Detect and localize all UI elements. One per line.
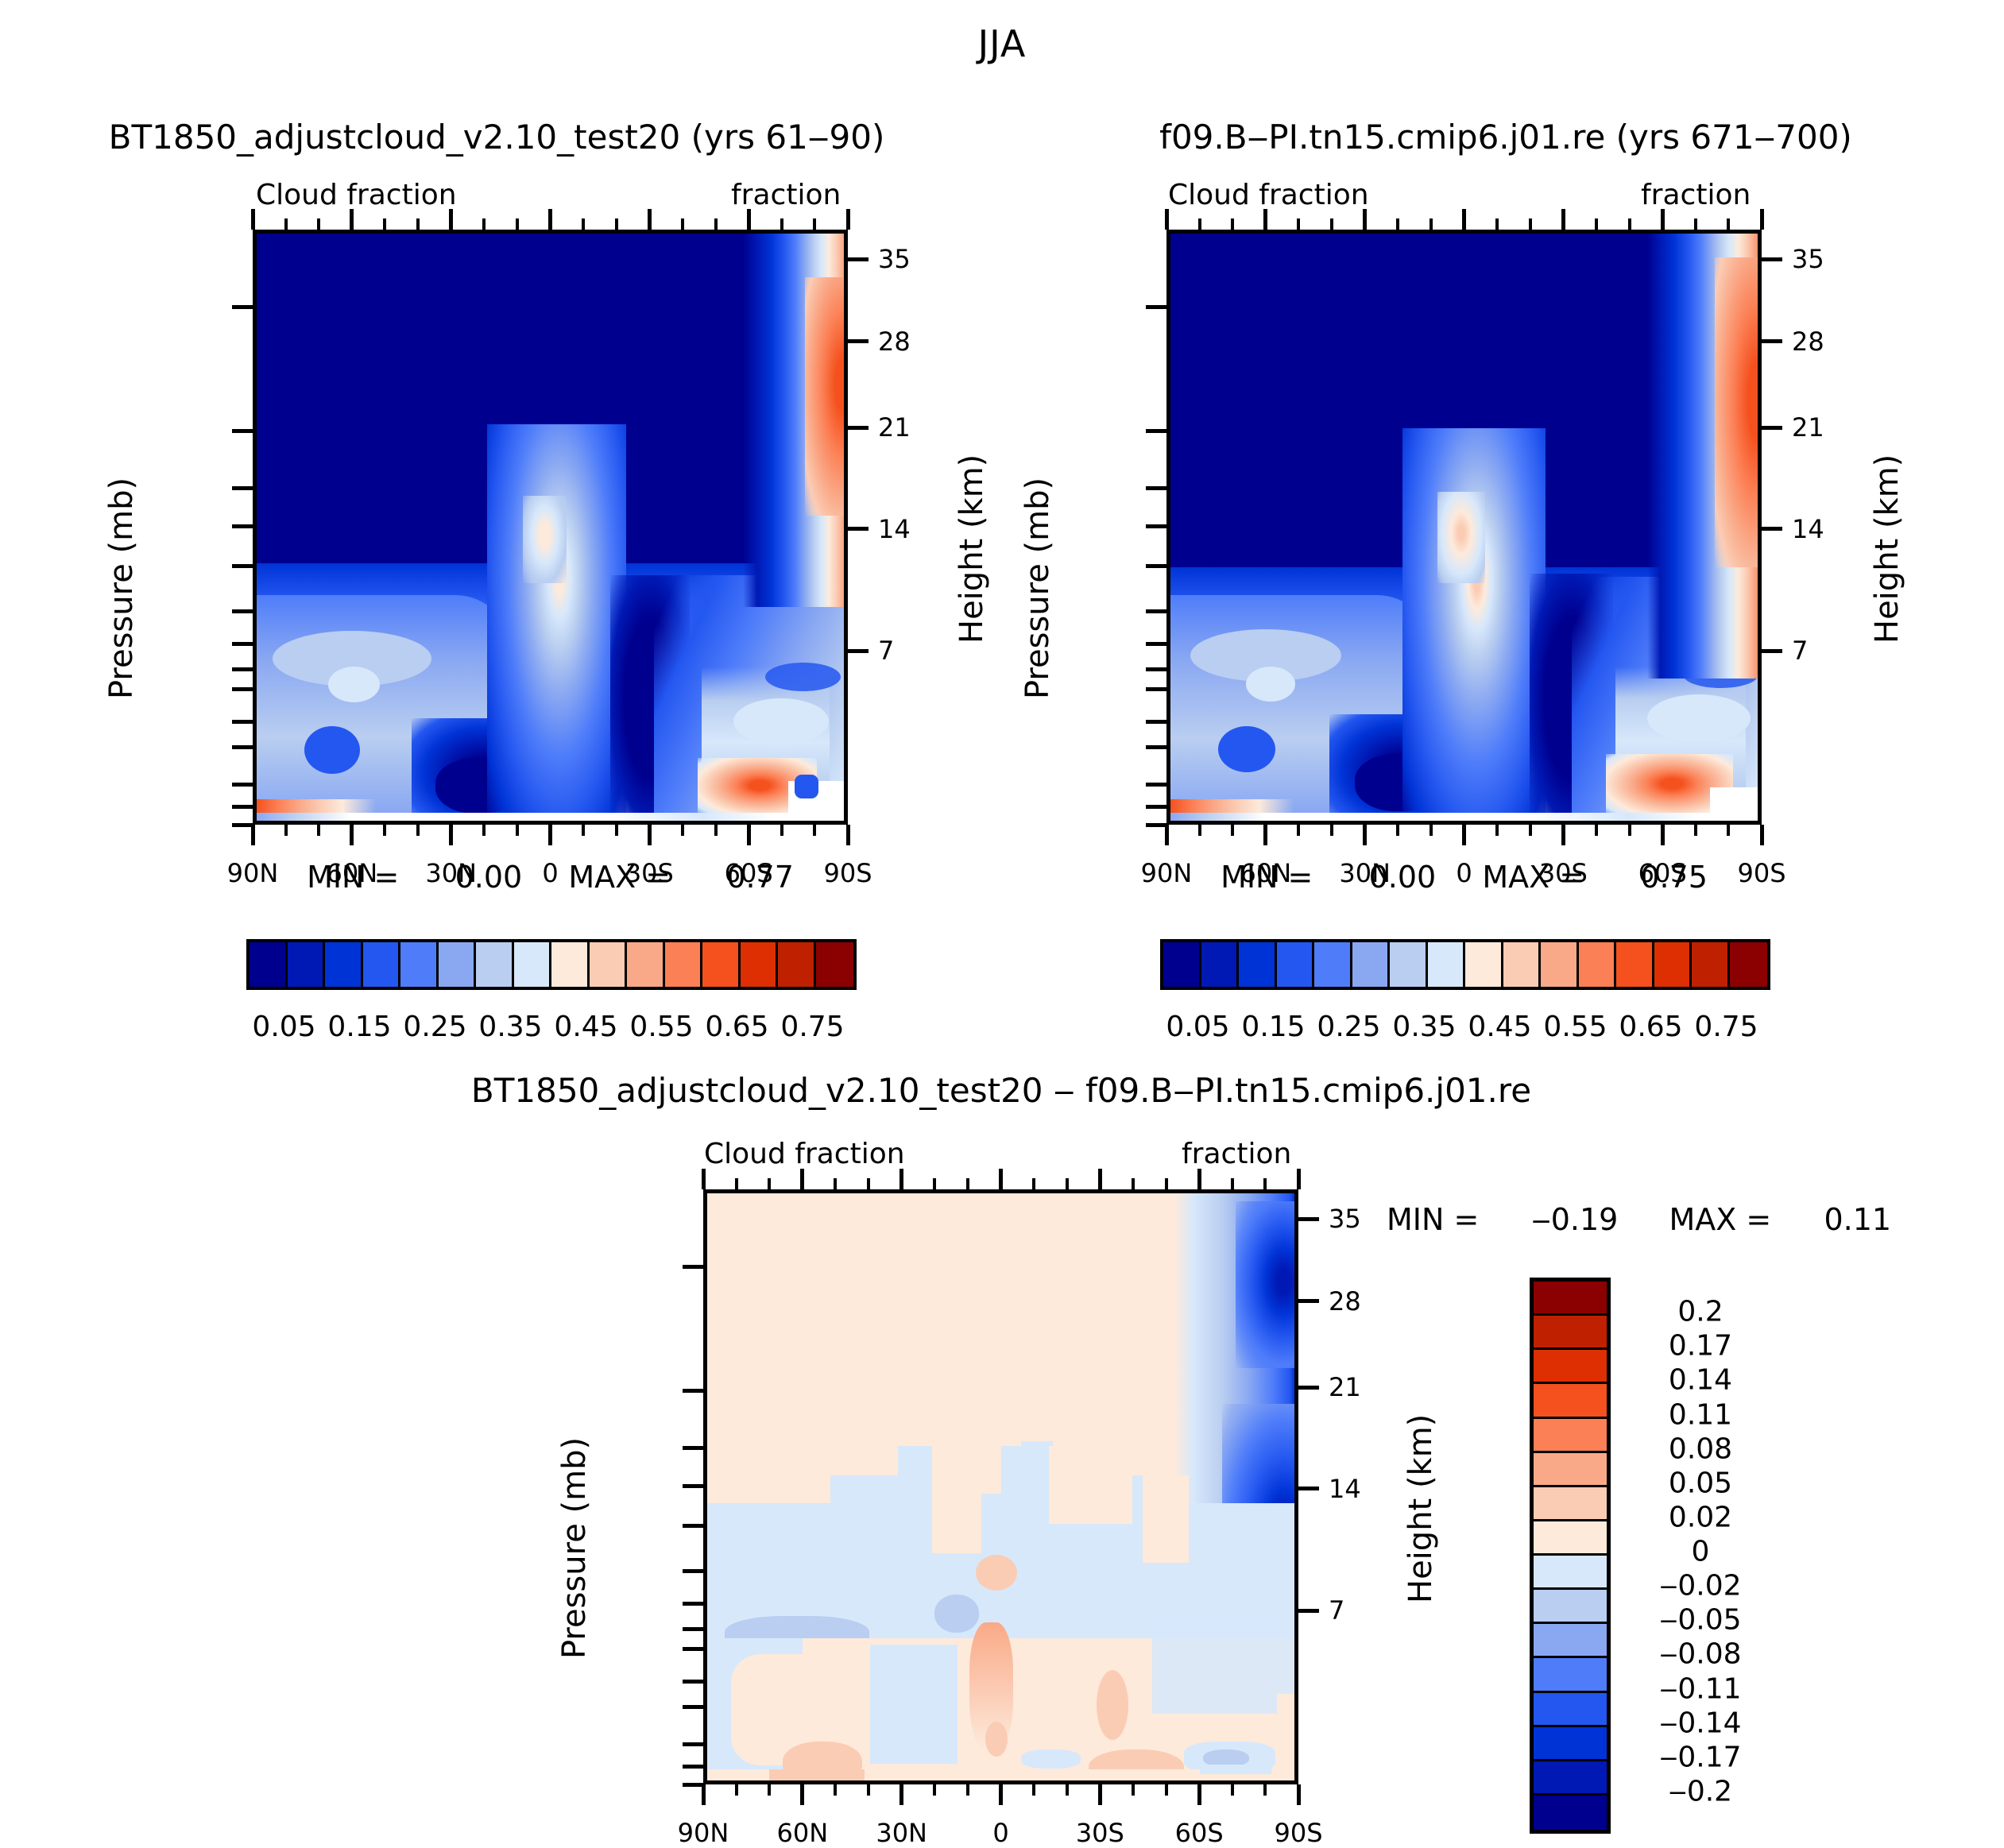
bottom-min-value: ‒0.19: [1532, 1202, 1619, 1237]
height-tick-label: 14: [878, 514, 911, 544]
x-tick-major: [449, 825, 453, 845]
colorbar-swatch: [702, 942, 741, 987]
pressure-tick: [683, 1680, 703, 1684]
x-tick-minor-top: [582, 218, 585, 230]
x-tick-major-top: [1098, 1169, 1102, 1189]
bottom-contour-field: [707, 1193, 1294, 1780]
x-tick-minor-top: [1165, 1178, 1168, 1189]
colorbar-swatch: [1352, 942, 1391, 987]
colorbar-tick-label: 0.55: [1543, 1011, 1607, 1043]
pressure-tick: [232, 564, 253, 568]
top-right-height-axis-title: Height (km): [1869, 454, 1905, 644]
x-tick-minor-top: [1529, 218, 1532, 230]
colorbar-tick-label: 0.14: [1617, 1364, 1784, 1397]
colorbar-swatch: [590, 942, 628, 987]
bottom-panel-title: BT1850_adjustcloud_v2.10_test20 ‒ f09.B‒…: [318, 1071, 1685, 1110]
x-tick-minor: [516, 825, 519, 836]
colorbar-swatch: [1534, 1590, 1607, 1624]
x-tick-minor-top: [1231, 218, 1234, 230]
pressure-tick: [232, 667, 253, 671]
latitude-tick-label: 60N: [777, 1818, 829, 1848]
pressure-tick: [683, 1446, 703, 1450]
x-tick-minor-top: [615, 218, 618, 230]
colorbar-swatch: [1541, 942, 1579, 987]
x-tick-minor-top: [1330, 218, 1333, 230]
top-left-contour-field: [257, 234, 844, 821]
height-tick-label: 7: [1329, 1595, 1344, 1626]
top-left-max-label: MAX =: [568, 860, 671, 895]
pressure-tick: [232, 524, 253, 528]
pressure-tick: [683, 1265, 703, 1269]
top-right-variable-label: Cloud fraction: [1168, 179, 1369, 211]
height-tick: [1762, 339, 1782, 343]
colorbar-tick-label: 0.65: [705, 1011, 768, 1043]
bottom-max-label: MAX =: [1669, 1202, 1772, 1237]
x-tick-minor-top: [1495, 218, 1499, 230]
top-right-colorbar-labels: 0.050.150.250.350.450.550.650.75: [1160, 1011, 1764, 1046]
colorbar-swatch: [1428, 942, 1466, 987]
x-tick-minor-top: [768, 1178, 771, 1189]
x-tick-major-top: [1363, 209, 1367, 230]
x-tick-minor-top: [1727, 218, 1730, 230]
colorbar-tick-label: ‒0.17: [1617, 1741, 1784, 1773]
x-tick-minor-top: [1132, 1178, 1135, 1189]
x-tick-major: [1197, 1784, 1201, 1805]
x-tick-minor: [582, 825, 585, 836]
colorbar-swatch: [1534, 1624, 1607, 1658]
colorbar-swatch: [778, 942, 816, 987]
x-tick-major-top: [1263, 209, 1267, 230]
colorbar-swatch: [1534, 1556, 1607, 1590]
x-tick-minor-top: [284, 218, 288, 230]
x-tick-major-top: [702, 1169, 706, 1189]
pressure-tick: [1146, 609, 1166, 613]
x-tick-major: [648, 825, 652, 845]
x-tick-minor: [1727, 825, 1730, 836]
colorbar-swatch: [1534, 1316, 1607, 1350]
height-tick-label: 28: [1329, 1286, 1361, 1316]
colorbar-swatch: [1692, 942, 1730, 987]
x-tick-minor: [768, 1784, 771, 1796]
colorbar-swatch: [1534, 1384, 1607, 1418]
colorbar-swatch: [1534, 1487, 1607, 1521]
colorbar-swatch: [1534, 1453, 1607, 1487]
pressure-tick: [232, 609, 253, 613]
top-right-max-value: 0.75: [1640, 860, 1708, 895]
bottom-variable-label: Cloud fraction: [704, 1138, 905, 1170]
top-left-max-value: 0.77: [726, 860, 794, 895]
x-tick-major: [1263, 825, 1267, 845]
pressure-tick: [1146, 305, 1166, 309]
top-left-min-label: MIN =: [307, 860, 399, 895]
pressure-tick: [1146, 783, 1166, 787]
pressure-tick: [232, 429, 253, 433]
colorbar-tick-label: 0.08: [1617, 1432, 1784, 1465]
colorbar-swatch: [1534, 1282, 1607, 1316]
x-tick-major: [1561, 825, 1565, 845]
colorbar-tick-label: 0.05: [1166, 1011, 1229, 1043]
colorbar-tick-label: 0.35: [478, 1011, 542, 1043]
x-tick-major: [747, 825, 751, 845]
colorbar-tick-label: 0.15: [327, 1011, 391, 1043]
x-tick-minor: [933, 1784, 936, 1796]
x-tick-minor-top: [1595, 218, 1598, 230]
x-tick-minor: [780, 825, 783, 836]
pressure-tick: [1146, 486, 1166, 490]
colorbar-swatch: [288, 942, 326, 987]
x-tick-major-top: [1760, 209, 1764, 230]
colorbar-swatch: [1534, 1350, 1607, 1384]
x-tick-minor-top: [1628, 218, 1631, 230]
colorbar-tick-label: 0.11: [1617, 1398, 1784, 1431]
top-right-panel-title: f09.B‒PI.tn15.cmip6.j01.re (yrs 671‒700): [1057, 118, 1955, 157]
x-tick-minor: [681, 825, 684, 836]
colorbar-swatch: [325, 942, 363, 987]
x-tick-minor-top: [1263, 1178, 1267, 1189]
top-left-plot-area[interactable]: [253, 230, 848, 825]
pressure-tick: [683, 1742, 703, 1746]
pressure-tick: [683, 1484, 703, 1488]
x-tick-minor-top: [516, 218, 519, 230]
x-tick-minor-top: [1297, 218, 1300, 230]
x-tick-major: [350, 825, 354, 845]
x-tick-major: [548, 825, 552, 845]
height-tick: [848, 649, 869, 653]
height-tick-label: 35: [1792, 244, 1824, 274]
x-tick-minor: [1263, 1784, 1267, 1796]
x-tick-major-top: [1297, 1169, 1301, 1189]
x-tick-major-top: [449, 209, 453, 230]
top-right-min-value: 0.00: [1369, 860, 1437, 895]
height-tick: [1298, 1609, 1319, 1613]
x-tick-major: [1098, 1784, 1102, 1805]
top-left-variable-label: Cloud fraction: [256, 179, 457, 211]
x-tick-major-top: [251, 209, 255, 230]
top-right-colorbar[interactable]: [1160, 939, 1770, 990]
x-tick-major-top: [899, 1169, 903, 1189]
x-tick-major-top: [747, 209, 751, 230]
top-left-colorbar[interactable]: [246, 939, 857, 990]
x-tick-major-top: [648, 209, 652, 230]
pressure-tick: [683, 1389, 703, 1393]
x-tick-minor: [1330, 825, 1333, 836]
latitude-tick-label: 90S: [1274, 1818, 1322, 1848]
colorbar-swatch: [1534, 1521, 1607, 1556]
colorbar-swatch: [741, 942, 779, 987]
x-tick-minor: [1628, 825, 1631, 836]
height-tick-label: 7: [878, 636, 894, 666]
x-tick-minor: [416, 825, 420, 836]
colorbar-tick-label: 0.75: [780, 1011, 844, 1043]
colorbar-swatch: [1534, 1761, 1607, 1796]
x-tick-minor: [1595, 825, 1598, 836]
height-tick-label: 21: [1329, 1372, 1361, 1402]
difference-colorbar[interactable]: [1530, 1278, 1611, 1834]
latitude-tick-label: 60S: [1175, 1818, 1224, 1848]
top-left-units-label: fraction: [731, 179, 841, 211]
x-tick-minor: [834, 1784, 837, 1796]
x-tick-major-top: [1197, 1169, 1201, 1189]
colorbar-swatch: [476, 942, 514, 987]
colorbar-tick-label: 0.25: [403, 1011, 466, 1043]
x-tick-minor-top: [1066, 1178, 1069, 1189]
colorbar-tick-label: ‒0.2: [1617, 1775, 1784, 1807]
x-tick-minor: [1231, 1784, 1234, 1796]
top-left-min-value: 0.00: [455, 860, 523, 895]
latitude-tick-label: 30S: [1076, 1818, 1124, 1848]
x-tick-minor: [1198, 825, 1201, 836]
pressure-tick: [1146, 720, 1166, 724]
x-tick-minor-top: [867, 1178, 870, 1189]
colorbar-tick-label: ‒0.14: [1617, 1707, 1784, 1739]
pressure-tick: [232, 783, 253, 787]
colorbar-tick-label: 0.75: [1694, 1011, 1758, 1043]
colorbar-swatch: [1163, 942, 1201, 987]
x-tick-major-top: [350, 209, 354, 230]
colorbar-swatch: [665, 942, 703, 987]
x-tick-major: [1363, 825, 1367, 845]
bottom-min-label: MIN =: [1387, 1202, 1479, 1237]
x-tick-minor-top: [1032, 1178, 1035, 1189]
top-left-pressure-axis-title: Pressure (mb): [103, 477, 140, 699]
height-tick: [848, 339, 869, 343]
x-tick-minor-top: [714, 218, 718, 230]
top-right-max-label: MAX =: [1482, 860, 1584, 895]
x-tick-major: [251, 825, 255, 845]
x-tick-major: [846, 825, 850, 845]
colorbar-tick-label: 0.35: [1392, 1011, 1456, 1043]
pressure-tick: [232, 823, 253, 827]
height-tick: [1298, 1217, 1319, 1221]
colorbar-swatch: [1314, 942, 1352, 987]
pressure-tick: [683, 1524, 703, 1528]
height-tick: [848, 257, 869, 261]
colorbar-tick-label: 0.05: [252, 1011, 315, 1043]
pressure-tick: [232, 305, 253, 309]
colorbar-tick-label: 0.2: [1617, 1296, 1784, 1328]
pressure-tick: [232, 720, 253, 724]
top-left-panel-title: BT1850_adjustcloud_v2.10_test20 (yrs 61‒…: [48, 118, 946, 157]
colorbar-swatch: [1730, 942, 1768, 987]
height-tick-label: 35: [878, 244, 911, 274]
pressure-tick: [683, 1602, 703, 1606]
x-tick-major: [999, 1784, 1003, 1805]
colorbar-swatch: [1534, 1419, 1607, 1453]
x-tick-minor-top: [735, 1178, 738, 1189]
pressure-tick: [683, 1783, 703, 1787]
colorbar-tick-label: 0.45: [1468, 1011, 1531, 1043]
pressure-tick: [1146, 823, 1166, 827]
x-tick-major: [1462, 825, 1466, 845]
x-tick-major-top: [1661, 209, 1665, 230]
pressure-tick: [683, 1765, 703, 1769]
pressure-tick: [1146, 642, 1166, 646]
colorbar-tick-label: ‒0.11: [1617, 1672, 1784, 1705]
height-tick: [1298, 1386, 1319, 1390]
pressure-tick: [683, 1569, 703, 1573]
bottom-height-axis-title: Height (km): [1402, 1414, 1439, 1603]
height-tick-label: 14: [1329, 1474, 1361, 1504]
x-tick-major-top: [800, 1169, 804, 1189]
latitude-tick-label: 0: [992, 1818, 1008, 1848]
x-tick-minor: [867, 1784, 870, 1796]
pressure-tick: [683, 1705, 703, 1709]
top-right-min-label: MIN =: [1221, 860, 1313, 895]
bottom-pressure-axis-title: Pressure (mb): [556, 1437, 593, 1659]
x-tick-minor: [1132, 1784, 1135, 1796]
x-tick-major: [800, 1784, 804, 1805]
colorbar-swatch: [400, 942, 439, 987]
top-right-pressure-axis-title: Pressure (mb): [1019, 477, 1056, 699]
height-tick-label: 7: [1792, 636, 1808, 666]
height-tick: [1762, 257, 1782, 261]
pressure-tick: [232, 687, 253, 691]
pressure-tick: [1146, 667, 1166, 671]
x-tick-minor-top: [681, 218, 684, 230]
x-tick-major: [1297, 1784, 1301, 1805]
x-tick-minor: [317, 825, 320, 836]
season-title: JJA: [0, 22, 2004, 65]
x-tick-minor: [482, 825, 486, 836]
colorbar-swatch: [1239, 942, 1277, 987]
x-tick-minor-top: [416, 218, 420, 230]
colorbar-tick-label: 0.17: [1617, 1330, 1784, 1363]
x-tick-minor-top: [482, 218, 486, 230]
x-tick-minor-top: [966, 1178, 969, 1189]
colorbar-swatch: [1534, 1658, 1607, 1692]
colorbar-tick-label: 0.15: [1241, 1011, 1305, 1043]
latitude-tick-label: 90N: [678, 1818, 729, 1848]
pressure-tick: [1146, 745, 1166, 749]
pressure-tick: [1146, 687, 1166, 691]
x-tick-minor-top: [933, 1178, 936, 1189]
colorbar-tick-label: 0.02: [1617, 1501, 1784, 1533]
pressure-tick: [1146, 524, 1166, 528]
colorbar-tick-label: ‒0.05: [1617, 1604, 1784, 1637]
height-tick: [1762, 649, 1782, 653]
x-tick-minor: [1694, 825, 1697, 836]
height-tick: [1298, 1299, 1319, 1303]
x-tick-minor-top: [383, 218, 386, 230]
x-tick-minor: [1429, 825, 1433, 836]
x-tick-minor: [714, 825, 718, 836]
x-tick-major-top: [999, 1169, 1003, 1189]
top-right-units-label: fraction: [1641, 179, 1751, 211]
x-tick-minor: [1495, 825, 1499, 836]
pressure-tick: [232, 805, 253, 809]
colorbar-swatch: [439, 942, 477, 987]
x-tick-major-top: [548, 209, 552, 230]
height-tick: [848, 426, 869, 430]
pressure-tick: [232, 642, 253, 646]
height-tick-label: 14: [1792, 514, 1824, 544]
x-tick-minor-top: [1231, 1178, 1234, 1189]
colorbar-swatch: [363, 942, 401, 987]
x-tick-minor-top: [1198, 218, 1201, 230]
bottom-plot-area[interactable]: [703, 1189, 1298, 1784]
latitude-tick-label: 30N: [876, 1818, 927, 1848]
x-tick-minor-top: [813, 218, 816, 230]
x-tick-major-top: [1165, 209, 1169, 230]
colorbar-swatch: [627, 942, 665, 987]
colorbar-swatch: [1390, 942, 1428, 987]
colorbar-tick-label: 0.25: [1317, 1011, 1380, 1043]
colorbar-swatch: [1277, 942, 1315, 987]
height-tick: [1762, 426, 1782, 430]
x-tick-minor: [966, 1784, 969, 1796]
x-tick-major-top: [1462, 209, 1466, 230]
x-tick-minor: [1396, 825, 1399, 836]
colorbar-swatch: [1616, 942, 1654, 987]
x-tick-minor: [615, 825, 618, 836]
x-tick-minor: [735, 1784, 738, 1796]
height-tick: [848, 527, 869, 531]
colorbar-swatch: [1534, 1693, 1607, 1727]
top-left-height-axis-title: Height (km): [954, 454, 990, 644]
x-tick-minor-top: [780, 218, 783, 230]
x-tick-minor-top: [317, 218, 320, 230]
x-tick-minor-top: [1694, 218, 1697, 230]
colorbar-swatch: [816, 942, 854, 987]
bottom-units-label: fraction: [1182, 1138, 1291, 1170]
x-tick-minor: [284, 825, 288, 836]
x-tick-major: [1760, 825, 1764, 845]
bottom-max-value: 0.11: [1824, 1202, 1891, 1237]
colorbar-tick-label: 0.65: [1619, 1011, 1682, 1043]
colorbar-tick-label: 0.55: [629, 1011, 693, 1043]
colorbar-swatch: [551, 942, 590, 987]
height-tick-label: 21: [1792, 412, 1824, 443]
pressure-tick: [1146, 564, 1166, 568]
x-tick-minor: [1032, 1784, 1035, 1796]
x-tick-minor: [1165, 1784, 1168, 1796]
x-tick-minor: [383, 825, 386, 836]
x-tick-major: [702, 1784, 706, 1805]
colorbar-swatch: [1654, 942, 1693, 987]
x-tick-minor: [1297, 825, 1300, 836]
x-tick-minor: [1066, 1784, 1069, 1796]
x-tick-minor-top: [1429, 218, 1433, 230]
height-tick-label: 28: [878, 327, 911, 357]
x-tick-minor-top: [834, 1178, 837, 1189]
colorbar-tick-label: ‒0.02: [1617, 1570, 1784, 1603]
top-right-plot-area[interactable]: [1166, 230, 1762, 825]
x-tick-major: [1661, 825, 1665, 845]
x-tick-major-top: [846, 209, 850, 230]
x-tick-minor-top: [1396, 218, 1399, 230]
colorbar-swatch: [514, 942, 552, 987]
x-tick-minor: [813, 825, 816, 836]
pressure-tick: [232, 745, 253, 749]
difference-colorbar-labels: 0.20.170.140.110.080.050.020‒0.02‒0.05‒0…: [1617, 1278, 1800, 1826]
x-tick-major: [899, 1784, 903, 1805]
colorbar-swatch: [250, 942, 288, 987]
x-tick-minor: [1231, 825, 1234, 836]
pressure-tick: [1146, 805, 1166, 809]
x-tick-major: [1165, 825, 1169, 845]
height-tick: [1298, 1487, 1319, 1490]
colorbar-swatch: [1465, 942, 1503, 987]
colorbar-swatch: [1534, 1727, 1607, 1761]
top-right-contour-field: [1170, 234, 1758, 821]
pressure-tick: [232, 486, 253, 490]
bottom-minmax: MIN = ‒0.19 MAX = 0.11: [1387, 1202, 1891, 1237]
colorbar-swatch: [1534, 1796, 1607, 1830]
colorbar-tick-label: 0.05: [1617, 1467, 1784, 1499]
height-tick: [1762, 527, 1782, 531]
x-tick-major-top: [1561, 209, 1565, 230]
colorbar-swatch: [1579, 942, 1617, 987]
